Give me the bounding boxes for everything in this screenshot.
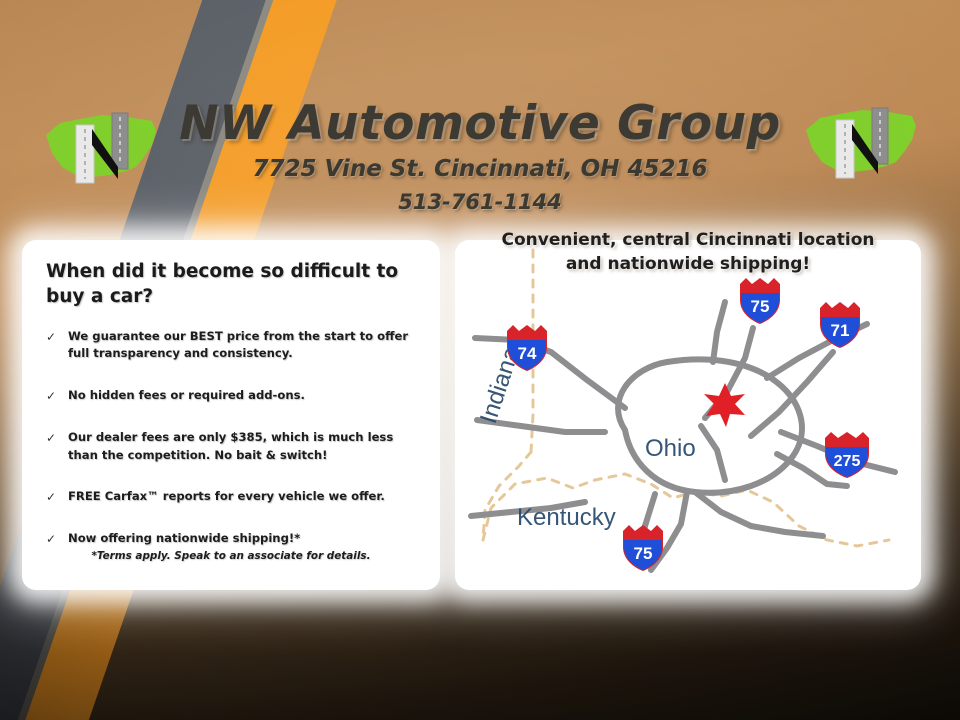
check-icon: ✓ bbox=[46, 387, 68, 405]
list-item: ✓ No hidden fees or required add-ons. bbox=[46, 387, 422, 405]
check-icon: ✓ bbox=[46, 328, 68, 346]
svg-text:275: 275 bbox=[834, 453, 861, 470]
page-title: When did it become so difficult to buy a… bbox=[46, 260, 414, 309]
nw-automotive-logo-left bbox=[40, 105, 162, 189]
list-item-label: Our dealer fees are only $385, which is … bbox=[68, 429, 422, 464]
list-item: ✓ FREE Carfax™ reports for every vehicle… bbox=[46, 488, 422, 506]
nw-automotive-logo-right bbox=[800, 100, 922, 184]
svg-text:75: 75 bbox=[634, 544, 653, 563]
map-card: Indiana Ohio Kentucky 74 75 71 bbox=[455, 240, 921, 590]
state-label-kentucky: Kentucky bbox=[517, 504, 616, 531]
list-item: ✓ Now offering nationwide shipping!* bbox=[46, 530, 422, 548]
interstate-shield-275: 275 bbox=[825, 432, 869, 478]
svg-text:75: 75 bbox=[751, 297, 770, 316]
list-item-label: We guarantee our BEST price from the sta… bbox=[68, 328, 422, 363]
check-icon: ✓ bbox=[46, 488, 68, 506]
svg-text:71: 71 bbox=[831, 321, 850, 340]
terms-disclaimer: *Terms apply. Speak to an associate for … bbox=[22, 550, 440, 562]
list-item: ✓ Our dealer fees are only $385, which i… bbox=[46, 429, 422, 464]
pitch-card: When did it become so difficult to buy a… bbox=[22, 240, 440, 590]
svg-text:74: 74 bbox=[518, 344, 537, 363]
company-phone: 513-761-1144 bbox=[0, 190, 960, 214]
map-caption-line2: and nationwide shipping! bbox=[455, 252, 921, 276]
check-icon: ✓ bbox=[46, 429, 68, 447]
list-item-label: FREE Carfax™ reports for every vehicle w… bbox=[68, 488, 422, 505]
list-item: ✓ We guarantee our BEST price from the s… bbox=[46, 328, 422, 363]
list-item-label: No hidden fees or required add-ons. bbox=[68, 387, 422, 404]
map-caption-line1: Convenient, central Cincinnati location bbox=[455, 228, 921, 252]
check-icon: ✓ bbox=[46, 530, 68, 548]
pitch-bullet-list: ✓ We guarantee our BEST price from the s… bbox=[46, 328, 422, 573]
cincinnati-region-map: Indiana Ohio Kentucky 74 75 71 bbox=[455, 240, 921, 590]
map-caption: Convenient, central Cincinnati location … bbox=[455, 228, 921, 276]
dealership-star-marker bbox=[704, 383, 745, 427]
slide-canvas: NW Automotive Group 7725 Vine St. Cincin… bbox=[0, 0, 960, 720]
interstate-shield-75-north: 75 bbox=[740, 278, 780, 324]
state-label-ohio: Ohio bbox=[645, 435, 696, 462]
list-item-label: Now offering nationwide shipping!* bbox=[68, 530, 422, 547]
